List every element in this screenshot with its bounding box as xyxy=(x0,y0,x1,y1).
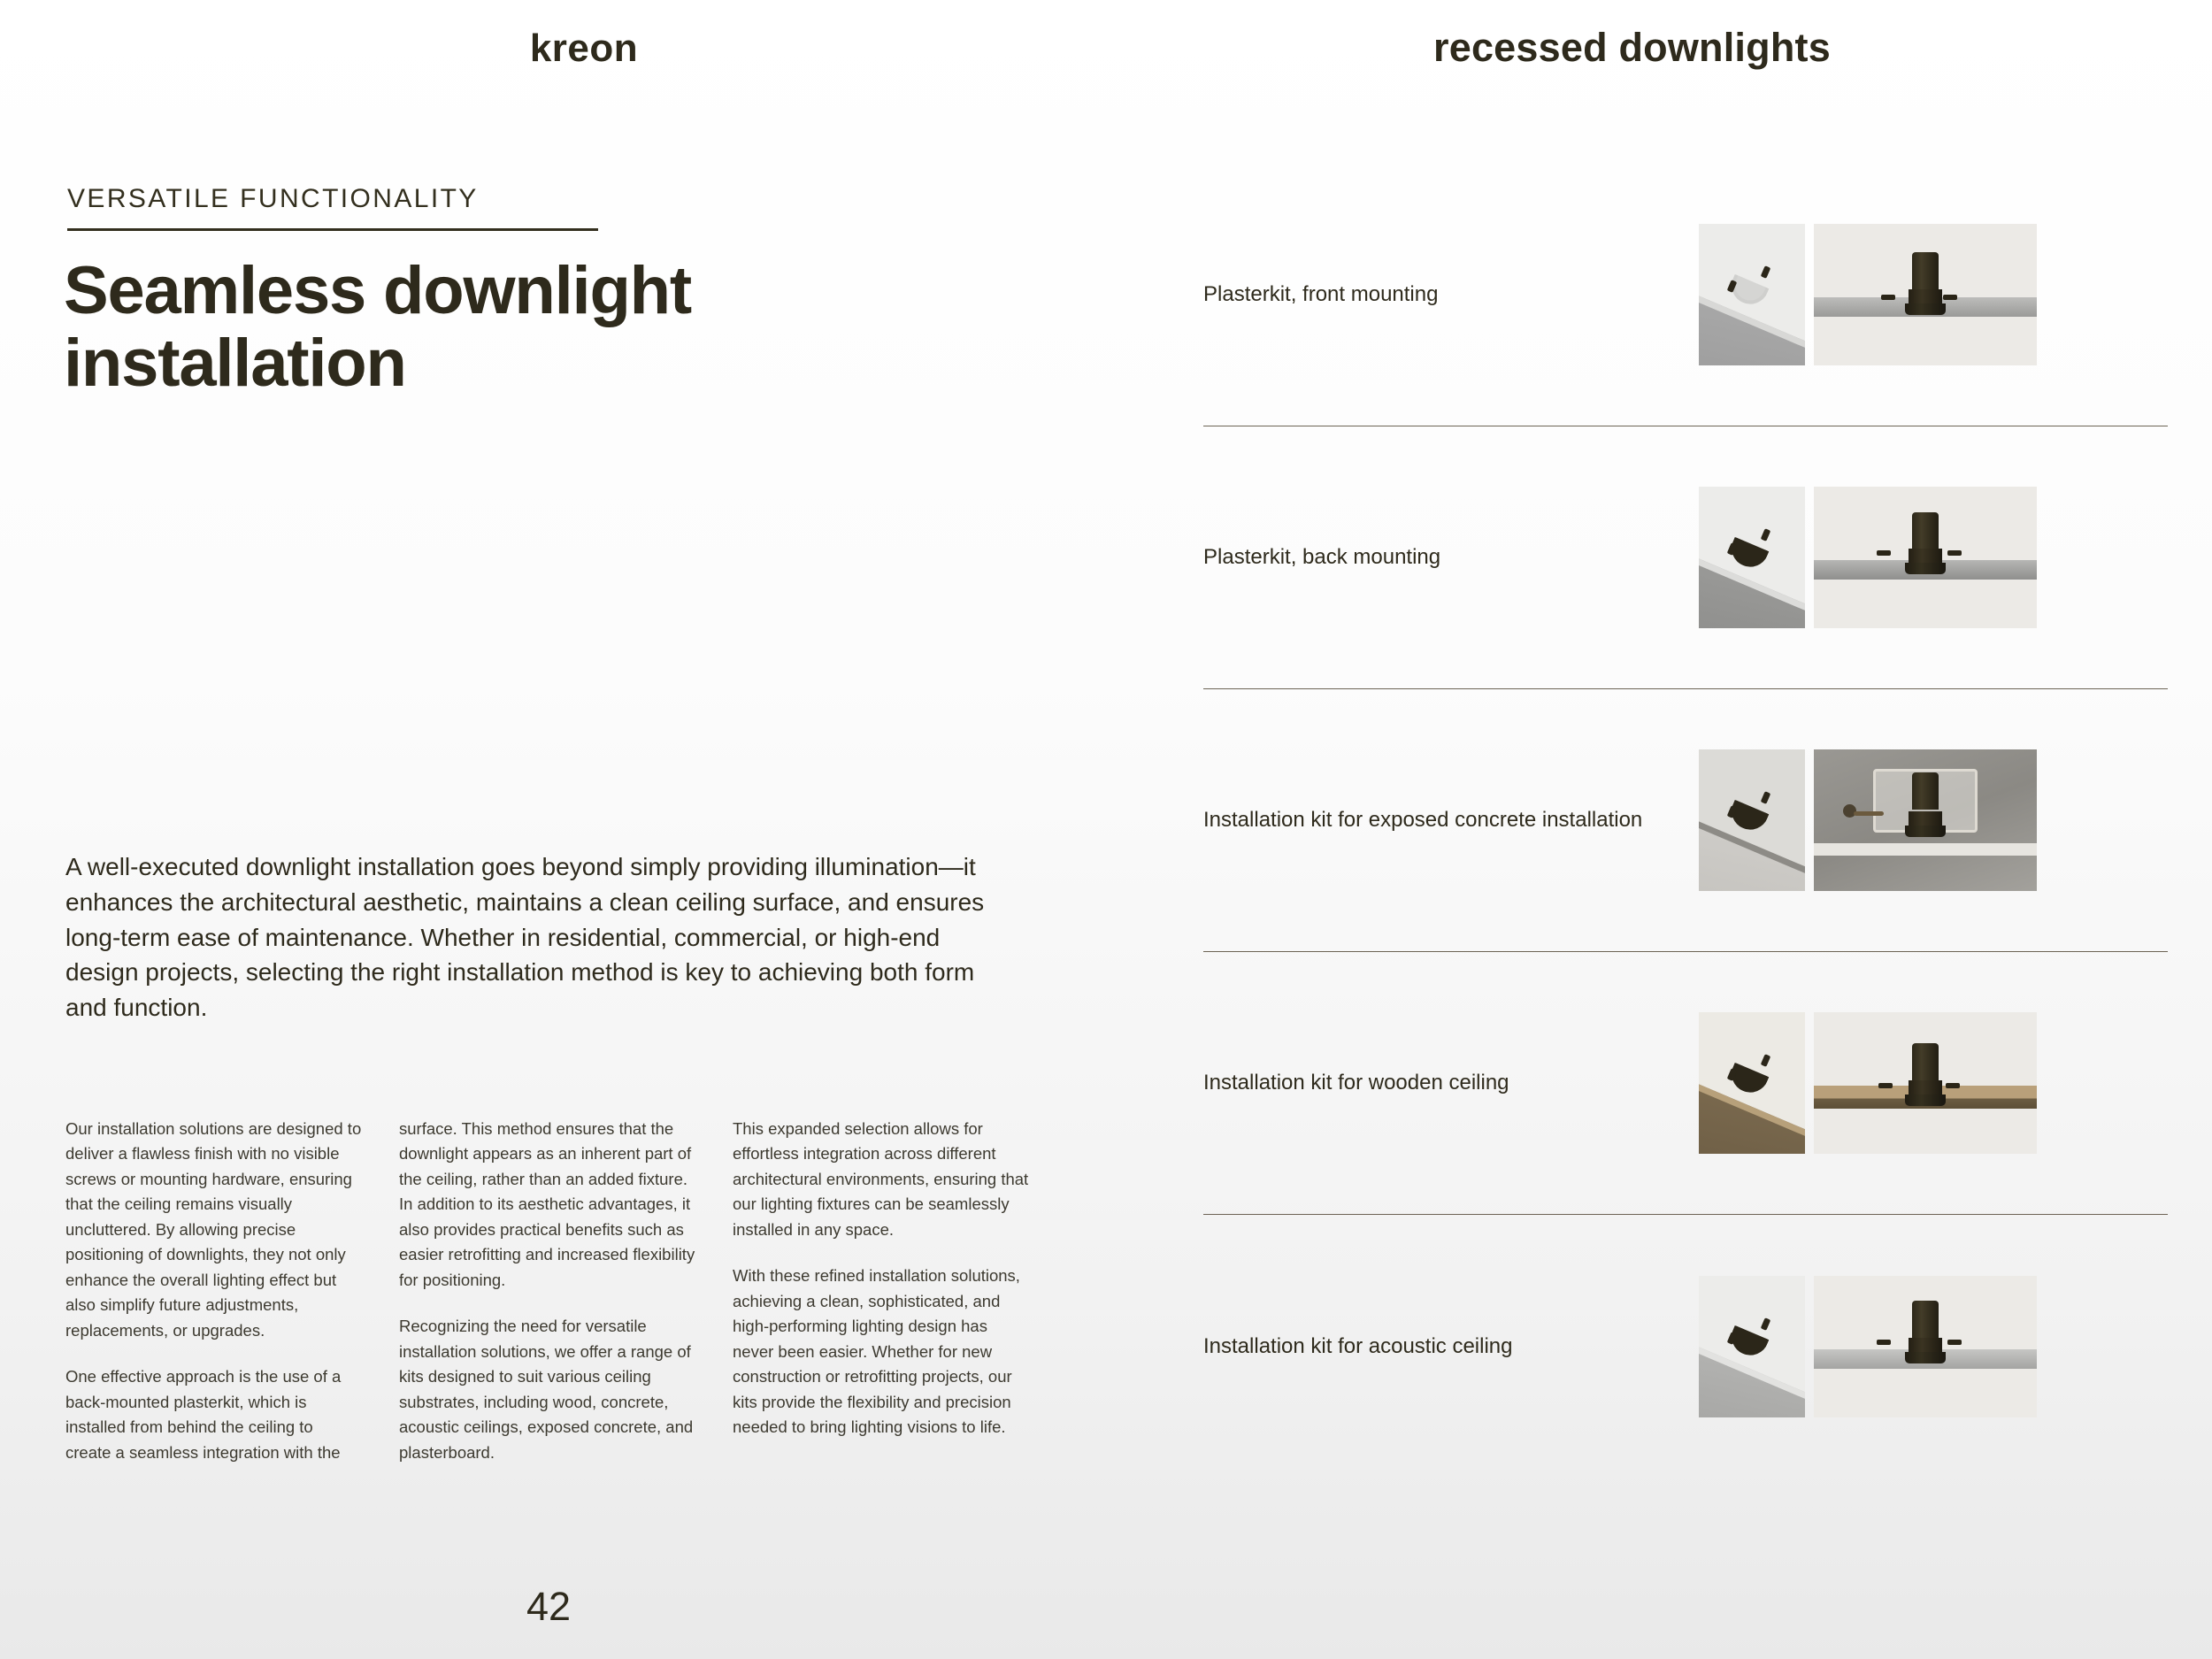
plasterkit-back-section-photo xyxy=(1814,487,2037,628)
exposed-concrete-section-photo xyxy=(1814,749,2037,891)
wooden-ceiling-section-photo xyxy=(1814,1012,2037,1154)
body-column-1: Our installation solutions are designed … xyxy=(65,1117,363,1465)
body-columns: Our installation solutions are designed … xyxy=(65,1117,1030,1465)
section-eyebrow: VERSATILE FUNCTIONALITY xyxy=(67,184,598,231)
acoustic-ceiling-section-photo xyxy=(1814,1276,2037,1417)
exposed-concrete-angled-ceiling-photo xyxy=(1699,749,1805,891)
right-page: Plasterkit, front mounting xyxy=(1106,0,2212,1659)
kit-label: Installation kit for acoustic ceiling xyxy=(1203,1333,1699,1361)
kit-label: Installation kit for exposed concrete in… xyxy=(1203,806,1699,834)
body-paragraph: surface. This method ensures that the do… xyxy=(399,1117,696,1293)
left-page: VERSATILE FUNCTIONALITY Seamless downlig… xyxy=(0,0,1106,1659)
kit-row: Plasterkit, front mounting xyxy=(1203,164,2168,426)
kit-row: Installation kit for wooden ceiling xyxy=(1203,952,2168,1215)
kit-thumbnails xyxy=(1699,487,2037,628)
kit-thumbnails xyxy=(1699,224,2037,365)
body-paragraph: With these refined installation solution… xyxy=(733,1263,1030,1440)
body-column-2: surface. This method ensures that the do… xyxy=(399,1117,696,1465)
lead-paragraph: A well-executed downlight installation g… xyxy=(65,849,1003,1025)
page-number-left: 42 xyxy=(526,1584,571,1630)
plasterkit-front-section-photo xyxy=(1814,224,2037,365)
kit-row: Installation kit for exposed concrete in… xyxy=(1203,689,2168,952)
kit-row: Plasterkit, back mounting xyxy=(1203,426,2168,689)
body-paragraph: Recognizing the need for versatile insta… xyxy=(399,1314,696,1465)
catalog-spread: kreon recessed downlights VERSATILE FUNC… xyxy=(0,0,2212,1659)
body-paragraph: This expanded selection allows for effor… xyxy=(733,1117,1030,1242)
kit-thumbnails xyxy=(1699,1276,2037,1417)
body-paragraph: One effective approach is the use of a b… xyxy=(65,1364,363,1465)
plasterkit-back-angled-ceiling-photo xyxy=(1699,487,1805,628)
acoustic-ceiling-angled-photo xyxy=(1699,1276,1805,1417)
page-title: Seamless downlight installation xyxy=(64,255,1037,400)
kit-label: Plasterkit, front mounting xyxy=(1203,280,1699,309)
eyebrow-rule xyxy=(67,228,598,231)
kit-label: Installation kit for wooden ceiling xyxy=(1203,1069,1699,1097)
body-column-3: This expanded selection allows for effor… xyxy=(733,1117,1030,1465)
kit-label: Plasterkit, back mounting xyxy=(1203,543,1699,572)
plasterkit-front-angled-ceiling-photo xyxy=(1699,224,1805,365)
kit-thumbnails xyxy=(1699,749,2037,891)
wooden-ceiling-angled-photo xyxy=(1699,1012,1805,1154)
installation-kit-list: Plasterkit, front mounting xyxy=(1203,164,2168,1478)
kit-row: Installation kit for acoustic ceiling xyxy=(1203,1215,2168,1478)
kit-thumbnails xyxy=(1699,1012,2037,1154)
body-paragraph: Our installation solutions are designed … xyxy=(65,1117,363,1343)
eyebrow-label: VERSATILE FUNCTIONALITY xyxy=(67,184,598,228)
